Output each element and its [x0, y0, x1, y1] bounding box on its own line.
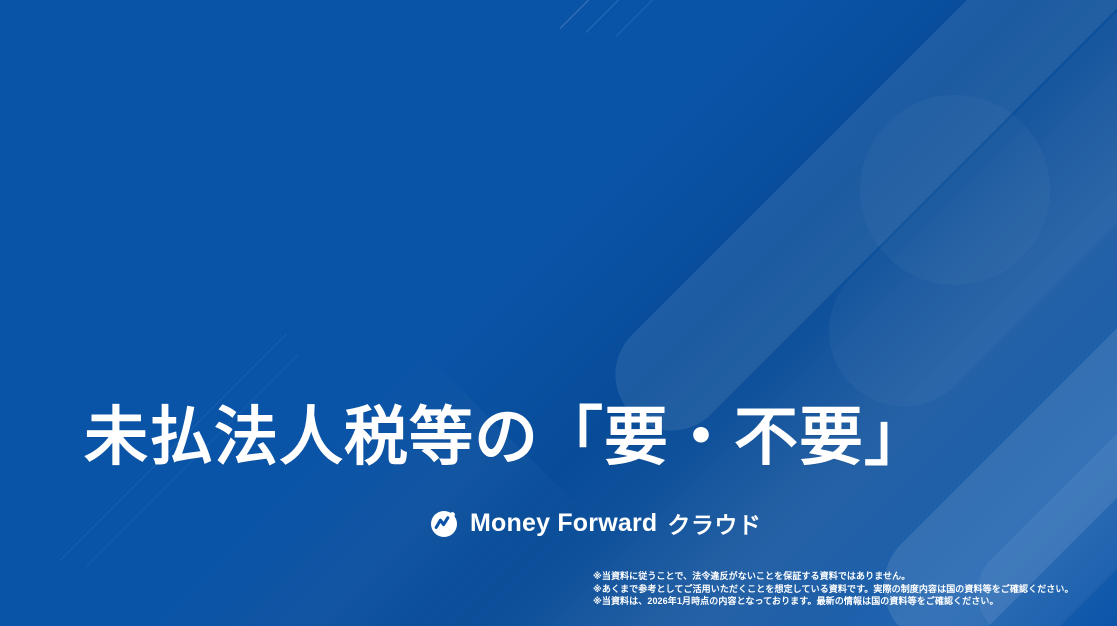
title-slide: 未払法人税等の「要・不要」 判定チェックブック Money Forward クラ…: [0, 0, 1117, 626]
footnote-block: ※当資料に従うことで、法令違反がないことを保証する資料ではありません。 ※あくま…: [593, 570, 1074, 608]
money-forward-cloud-logo: Money Forward クラウド: [430, 506, 761, 540]
diagonal-hairline-2: [586, 0, 1117, 33]
footnote-3: ※当資料は、2026年1月時点の内容となっております。最新の情報は国の資料等をご…: [593, 595, 1074, 608]
page-title: 未払法人税等の「要・不要」 判定チェックブック: [84, 212, 929, 626]
diagonal-hairline-1: [560, 0, 1117, 29]
footnote-1: ※当資料に従うことで、法令違反がないことを保証する資料ではありません。: [593, 570, 1074, 583]
page-title-line-1: 未払法人税等の「要・不要」: [84, 392, 929, 482]
logo-wordmark: Money Forward: [470, 509, 657, 538]
money-forward-mark-icon: [430, 508, 460, 538]
diagonal-hairline-3: [616, 0, 1117, 37]
footnote-2: ※あくまで参考としてご活用いただくことを想定している資料です。実際の制度内容は国…: [593, 583, 1074, 596]
logo-suffix: クラウド: [667, 506, 761, 540]
